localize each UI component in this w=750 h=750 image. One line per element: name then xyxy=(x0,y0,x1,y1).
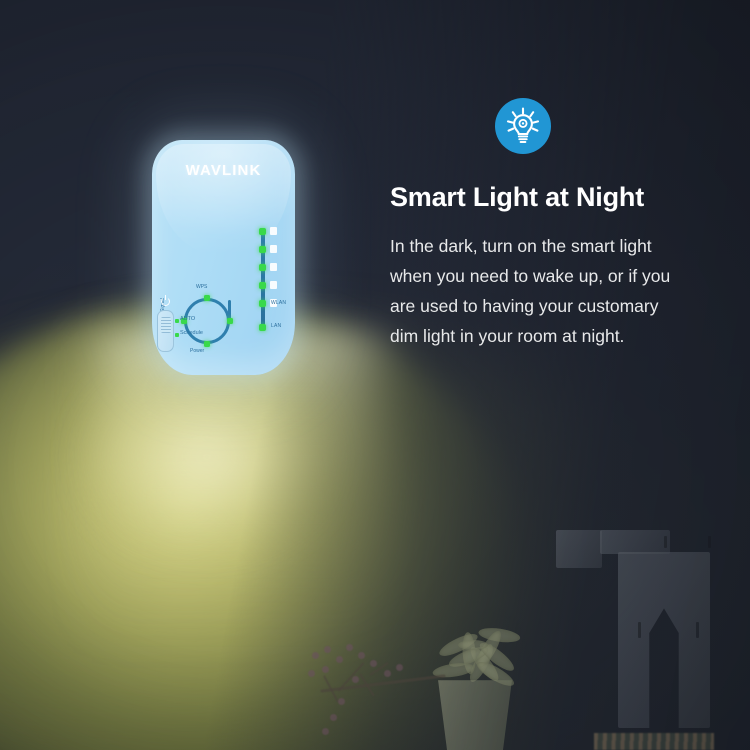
led-indicator xyxy=(259,282,266,289)
mode-switch[interactable] xyxy=(157,310,174,352)
led-tick xyxy=(270,227,277,235)
switch-option-auto: AUTO xyxy=(180,316,195,322)
led-tick xyxy=(270,263,277,271)
light-bulb-icon xyxy=(495,98,551,154)
dial-led xyxy=(204,295,210,301)
dial-label-power: Power xyxy=(190,348,204,354)
led-tick xyxy=(270,245,277,253)
led-label-lan: LAN xyxy=(271,323,281,329)
led-label-wlan: WLAN xyxy=(271,300,286,306)
led-indicator xyxy=(259,324,266,331)
wavlink-logo: WAVLINK xyxy=(152,162,295,179)
wifi-extender-device: WAVLINK WLAN LAN WPS Power Signal xyxy=(152,140,295,375)
led-indicator xyxy=(259,264,266,271)
switch-option-schedule: Schedule xyxy=(180,330,203,336)
dial-label-wps: WPS xyxy=(196,284,207,290)
switch-grip xyxy=(161,317,171,333)
led-indicator xyxy=(259,300,266,307)
led-strip xyxy=(261,230,265,329)
led-tick xyxy=(270,281,277,289)
device-highlight xyxy=(156,144,291,254)
option-dot xyxy=(175,319,179,323)
description-text: In the dark, turn on the smart light whe… xyxy=(390,231,686,351)
page-title: Smart Light at Night xyxy=(390,182,700,213)
dial-led xyxy=(204,341,210,347)
power-icon xyxy=(161,297,170,306)
led-indicator xyxy=(259,228,266,235)
wavlink-logo-text: WAVLINK xyxy=(186,162,262,179)
content-column: Smart Light at Night In the dark, turn o… xyxy=(390,98,700,351)
led-indicator xyxy=(259,246,266,253)
option-dot xyxy=(175,333,179,337)
product-banner: WAVLINK WLAN LAN WPS Power Signal xyxy=(0,0,750,750)
dial-led xyxy=(227,318,233,324)
